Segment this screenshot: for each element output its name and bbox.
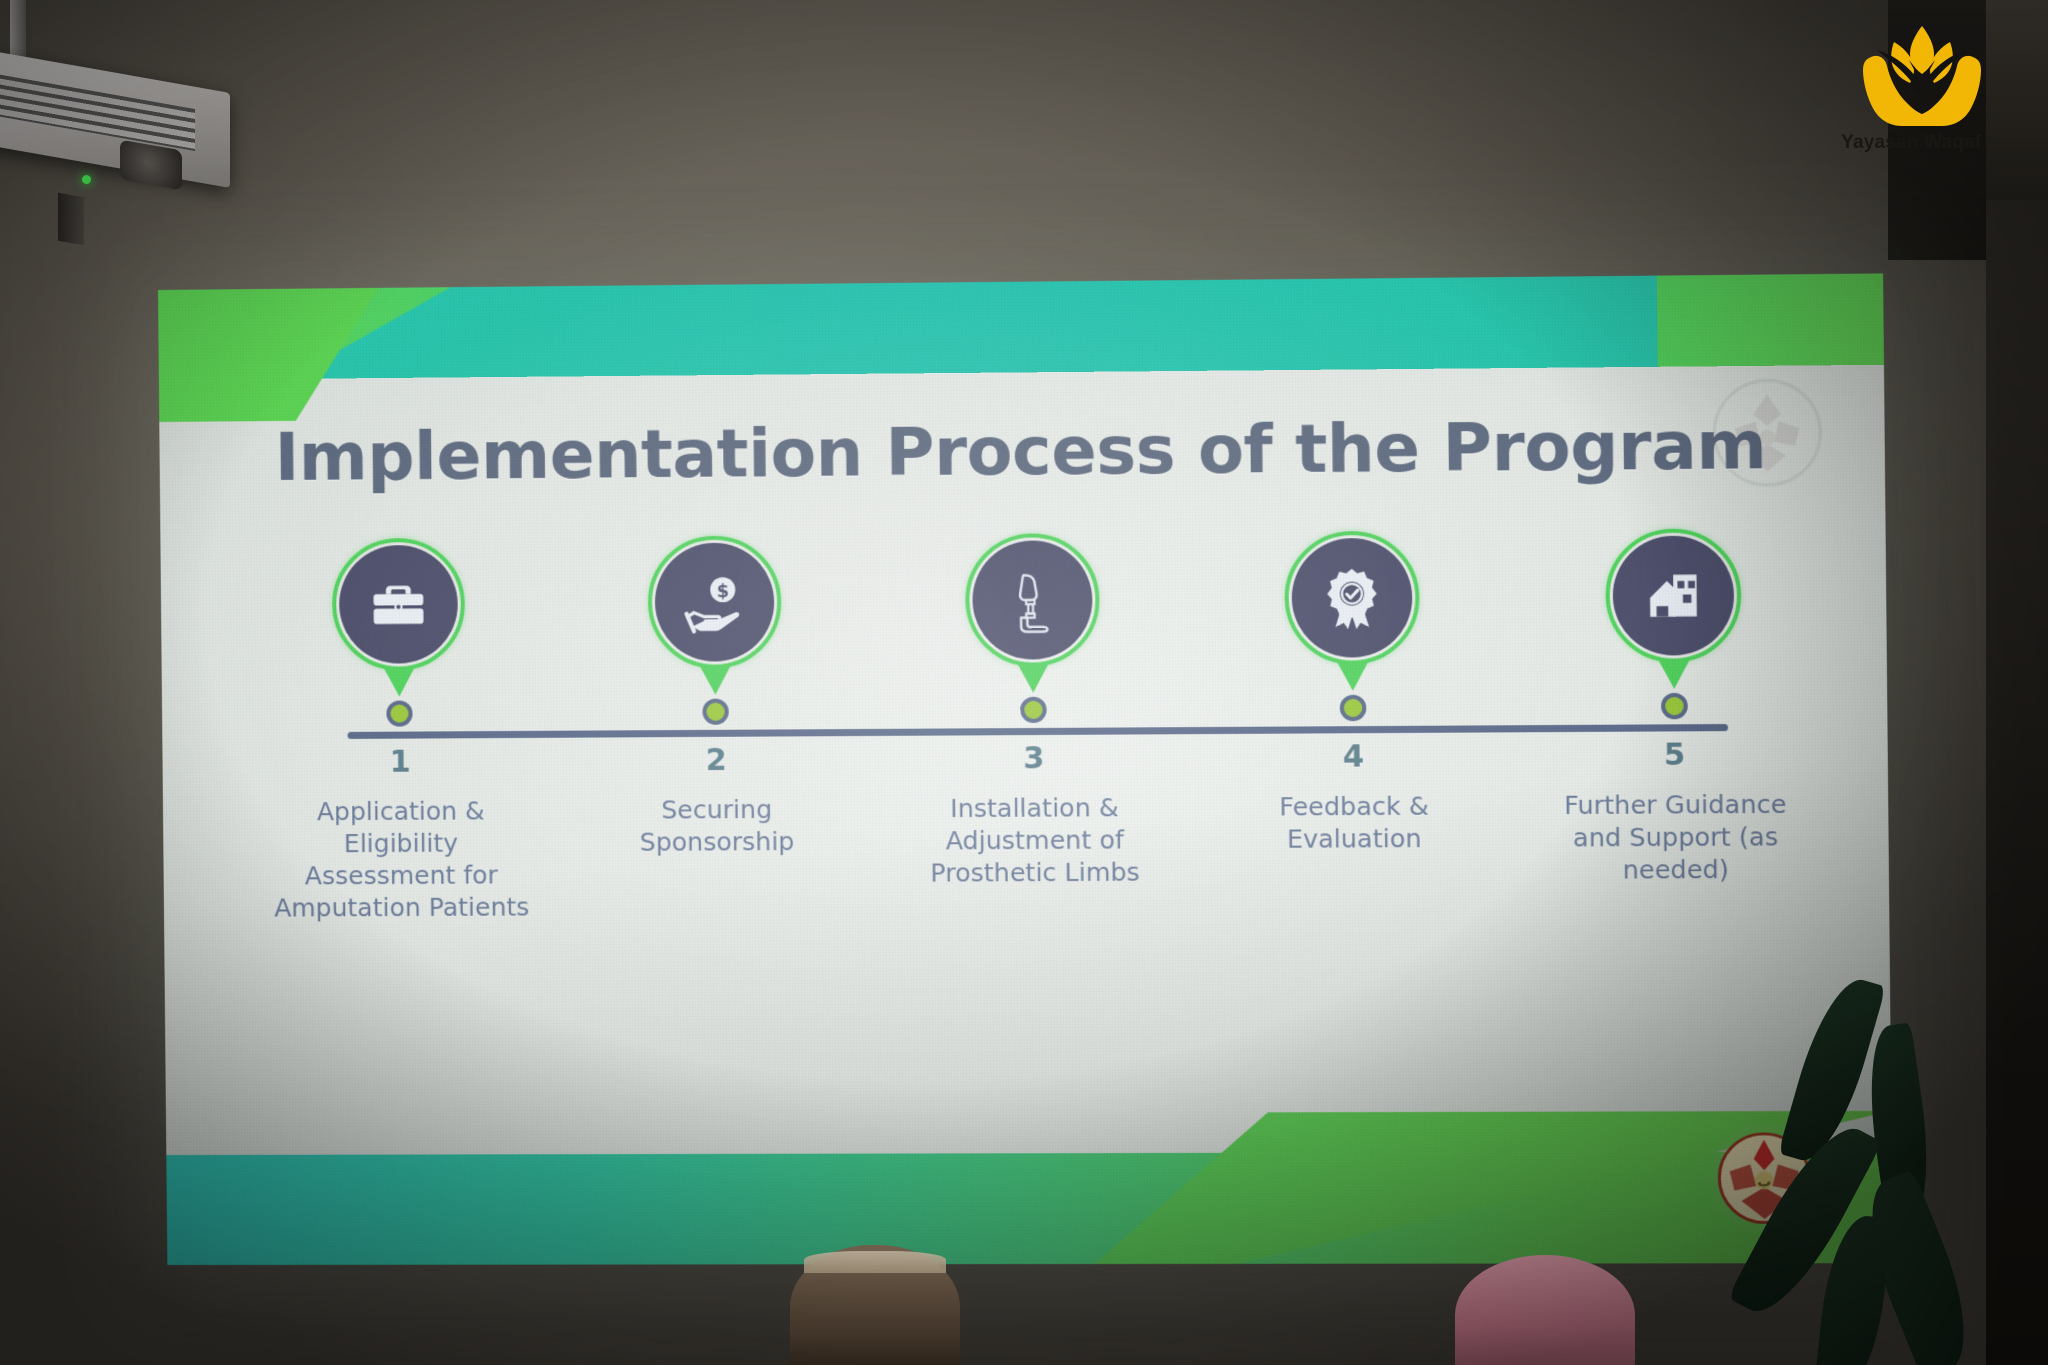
projector-power-led (82, 175, 91, 184)
implementation-timeline: 1 Application & Eligibility Assessment f… (250, 528, 1830, 1180)
briefcase-icon (365, 571, 432, 638)
step-5-icon-disc (1612, 535, 1734, 655)
foreground-plant (1763, 965, 1993, 1365)
step-5-node (1661, 693, 1688, 720)
step-3-node (1020, 697, 1047, 723)
step-1-bubble (332, 538, 466, 671)
page-title: Implementation Process of the Program (159, 405, 1885, 497)
person-left-head (790, 1245, 960, 1365)
award-ribbon-check-icon (1318, 564, 1386, 631)
step-4-node (1340, 695, 1367, 721)
lotus-in-hands-icon (1847, 18, 1997, 126)
timeline-step-2[interactable]: $ 2 Securing Sponsorship (566, 535, 866, 859)
step-4-icon-disc (1291, 538, 1413, 658)
step-2-pointer (699, 664, 732, 694)
slide-top-banner-teal-wedge (288, 276, 1658, 379)
hand-holding-dollar-icon: $ (681, 569, 748, 636)
step-3-bubble (965, 533, 1100, 667)
timeline-step-5[interactable]: 5 Further Guidance and Support (as neede… (1522, 528, 1828, 887)
step-4-label: Feedback & Evaluation (1216, 790, 1492, 856)
step-3-label: Installation & Adjustment of Prosthetic … (897, 792, 1172, 890)
wall-edge-right (1986, 0, 2048, 1365)
room-photo: Implementation Process of the Program (0, 0, 2048, 1365)
person-right-head (1455, 1255, 1635, 1365)
svg-text:$: $ (717, 582, 729, 602)
step-1-node (387, 700, 413, 726)
step-1-label: Application & Eligibility Assessment for… (265, 795, 537, 925)
step-5-pointer (1657, 658, 1690, 689)
step-5-number: 5 (1664, 737, 1686, 773)
step-2-icon-disc: $ (655, 542, 775, 661)
building-house-icon (1639, 562, 1707, 629)
step-4-pointer (1336, 660, 1369, 691)
step-5-label: Further Guidance and Support (as needed) (1537, 788, 1815, 887)
step-4-bubble (1284, 531, 1420, 665)
step-3-icon-disc (972, 540, 1093, 660)
projected-slide: Implementation Process of the Program (158, 273, 1893, 1265)
wall-shadow-over-logo (1986, 0, 2048, 200)
step-1-pointer (383, 666, 415, 696)
prosthetic-leg-icon (999, 567, 1067, 634)
step-5-bubble (1605, 528, 1742, 663)
step-1-number: 1 (390, 745, 411, 780)
step-2-label: Securing Sponsorship (580, 793, 853, 859)
audience-person-right (1455, 1255, 1635, 1365)
step-3-number: 3 (1023, 741, 1045, 776)
step-4-number: 4 (1343, 739, 1365, 774)
timeline-steps: 1 Application & Eligibility Assessment f… (250, 528, 1830, 1180)
step-1-icon-disc (339, 545, 459, 664)
step-2-node (702, 699, 728, 725)
timeline-step-4[interactable]: 4 Feedback & Evaluation (1201, 530, 1505, 856)
timeline-step-1[interactable]: 1 Application & Eligibility Assessment f… (250, 537, 549, 925)
projector-bracket (58, 193, 84, 246)
audience-person-left (790, 1245, 960, 1365)
person-left-headband (804, 1251, 946, 1273)
ceiling-projector (0, 60, 270, 220)
step-3-pointer (1017, 662, 1050, 692)
step-2-bubble: $ (647, 535, 782, 669)
step-2-number: 2 (706, 743, 727, 778)
timeline-step-3[interactable]: 3 Installation & Adjustment of Prostheti… (882, 532, 1184, 889)
